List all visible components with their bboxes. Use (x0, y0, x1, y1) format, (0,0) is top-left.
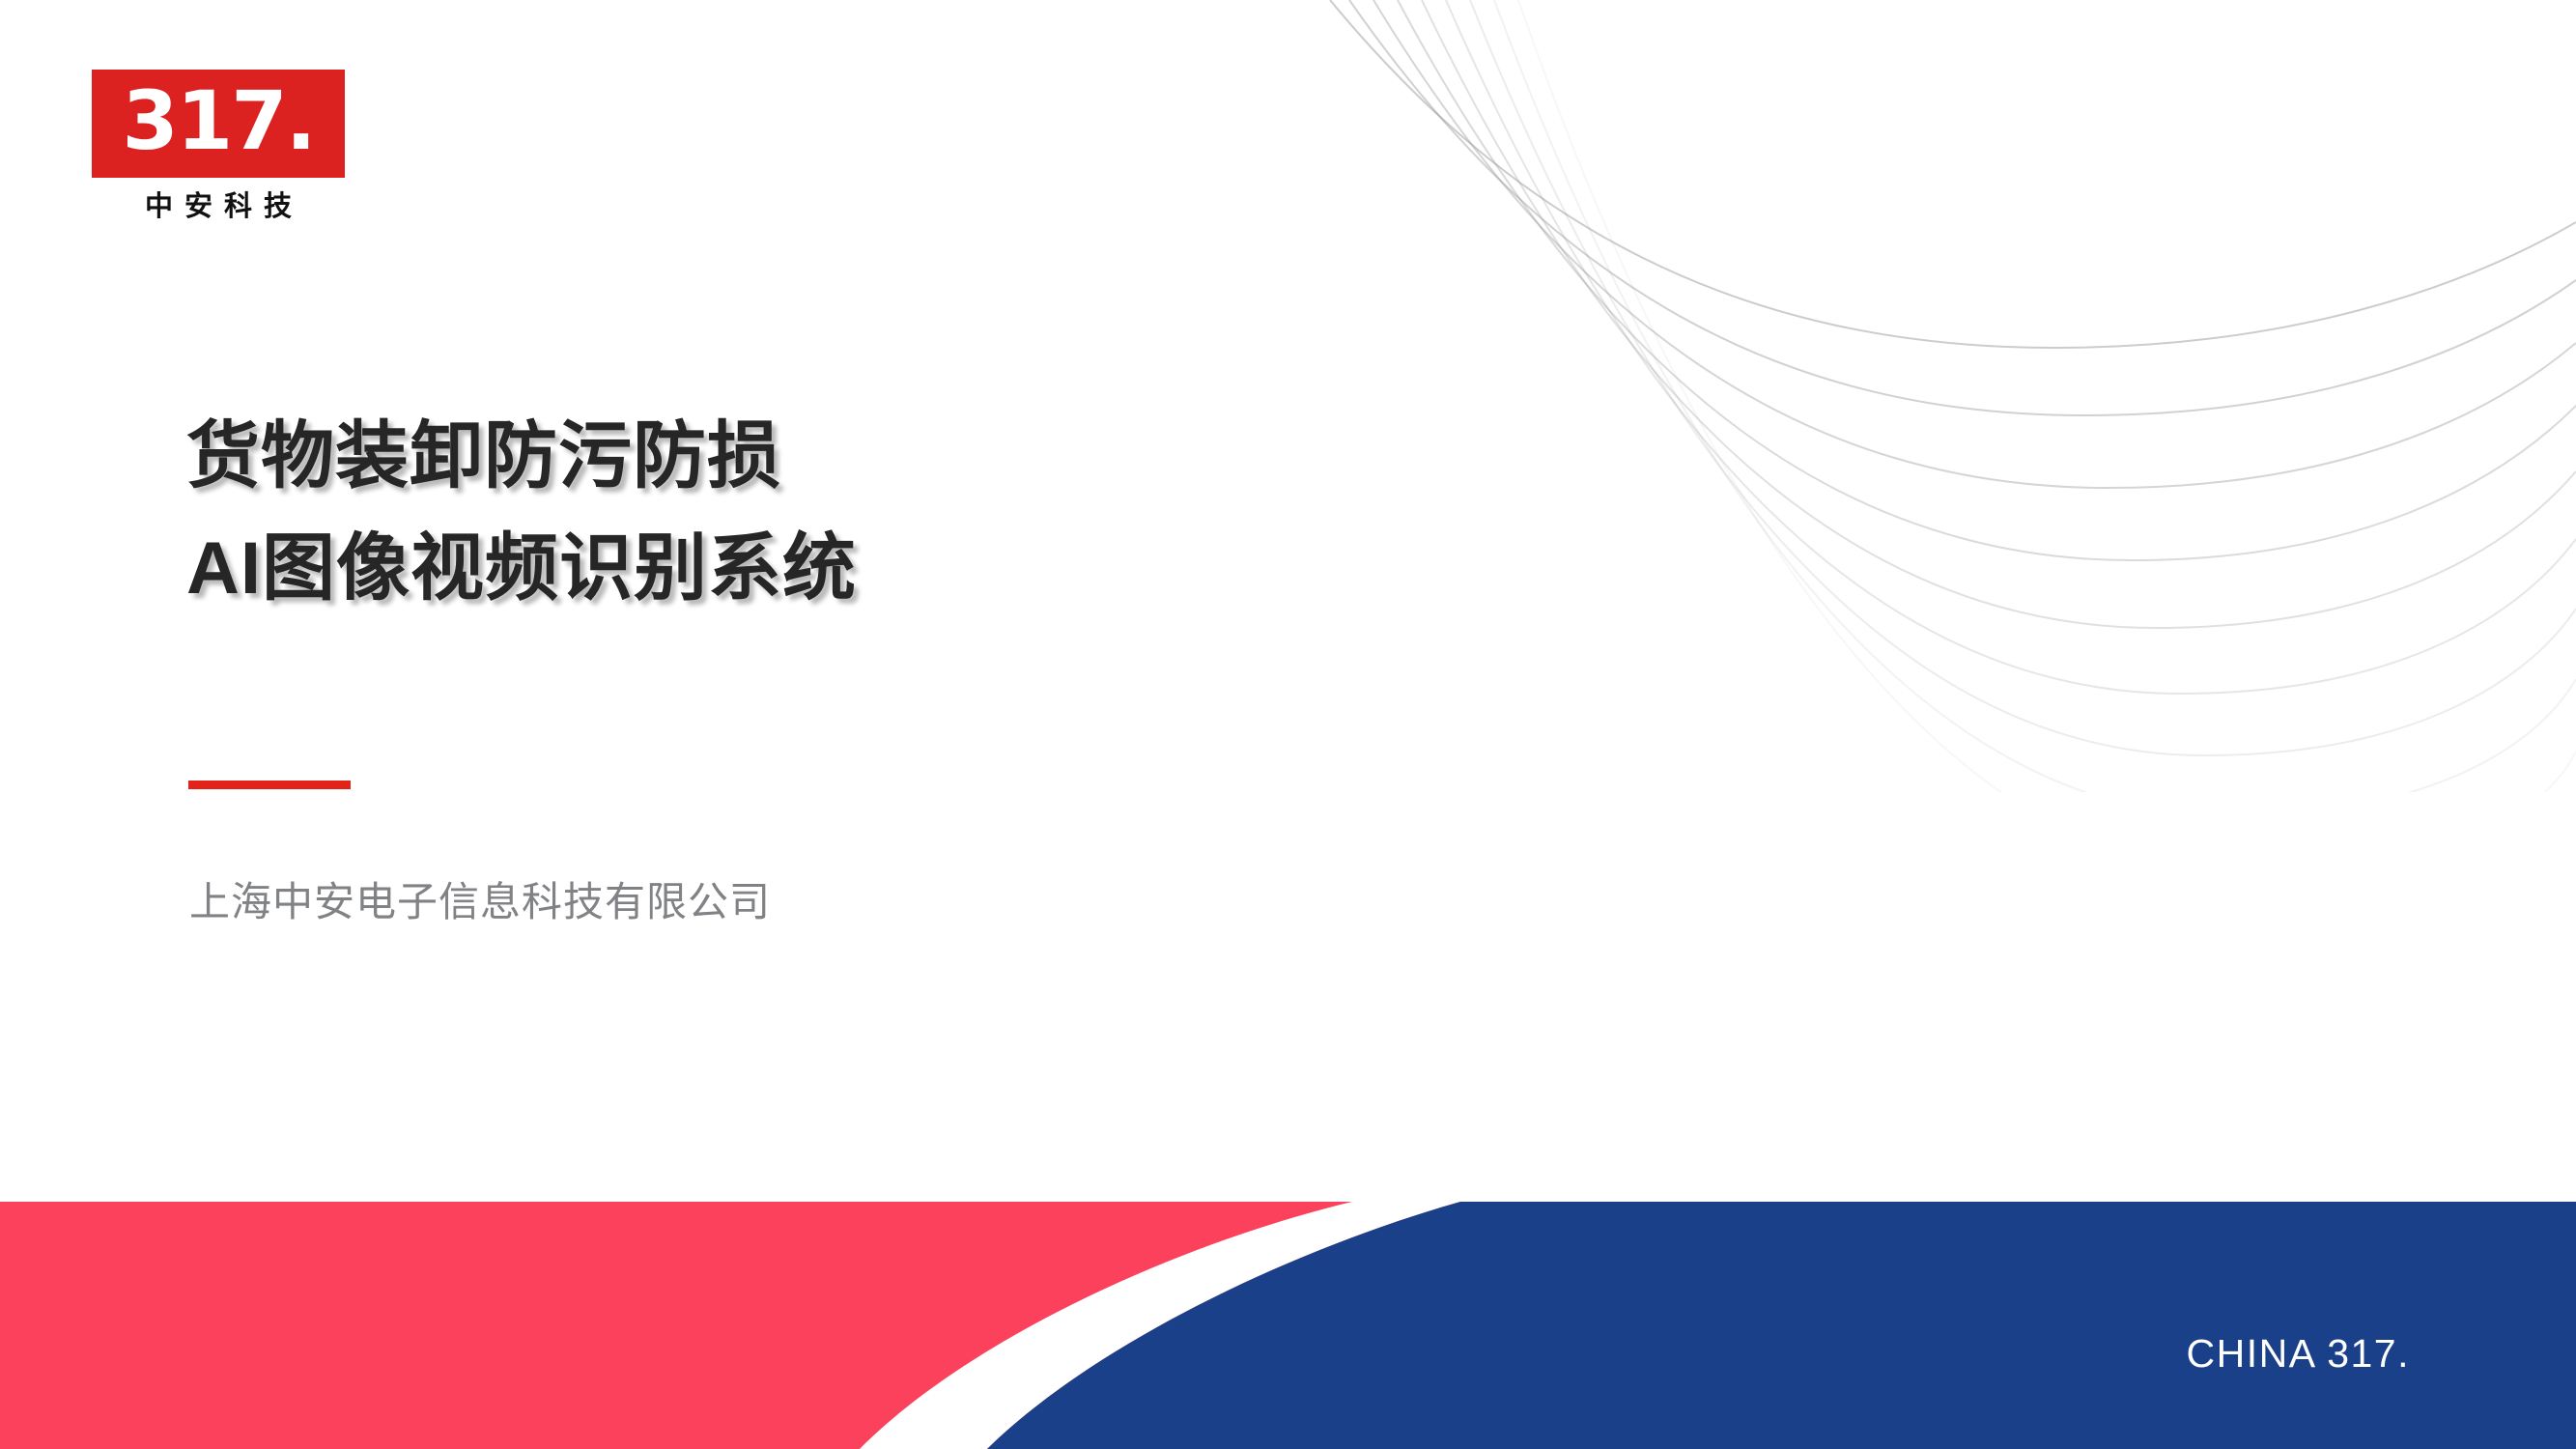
banner-label-china-317: CHINA 317. (2187, 1334, 2411, 1374)
company-logo: 317. 中安科技 (92, 70, 345, 221)
deco-curve-4 (1398, 0, 2576, 560)
title-divider (188, 781, 351, 789)
title-line-1: 货物装卸防污防损 (186, 401, 1442, 513)
bottom-banner-svg (0, 1202, 2576, 1449)
decorative-curves (1320, 0, 2576, 792)
logo-subtext: 中安科技 (92, 193, 345, 221)
decorative-curves-svg (1320, 0, 2576, 792)
page-title: 货物装卸防污防损 AI图像视频识别系统 (186, 401, 1442, 624)
deco-curve-5 (1422, 0, 2576, 628)
deco-curve-3 (1373, 0, 2576, 488)
deco-curve-2 (1349, 0, 2576, 415)
deco-curve-7 (1470, 0, 2576, 755)
deco-curve-6 (1446, 0, 2576, 694)
deco-curve-8 (1494, 0, 2576, 792)
deco-curve-9 (1518, 0, 2576, 792)
logo-mark-317: 317. (92, 70, 345, 178)
company-name-subtitle: 上海中安电子信息科技有限公司 (189, 877, 771, 928)
bottom-banner: CHINA 317. (0, 1202, 2576, 1449)
logo-mark-text: 317. (122, 80, 314, 161)
title-slide: 317. 中安科技 货物装卸防污防损 AI图像视频识别系统 上海中安电子信息科技… (0, 0, 2576, 1449)
deco-curve-1 (1330, 0, 2576, 348)
title-line-2: AI图像视频识别系统 (186, 513, 1442, 625)
